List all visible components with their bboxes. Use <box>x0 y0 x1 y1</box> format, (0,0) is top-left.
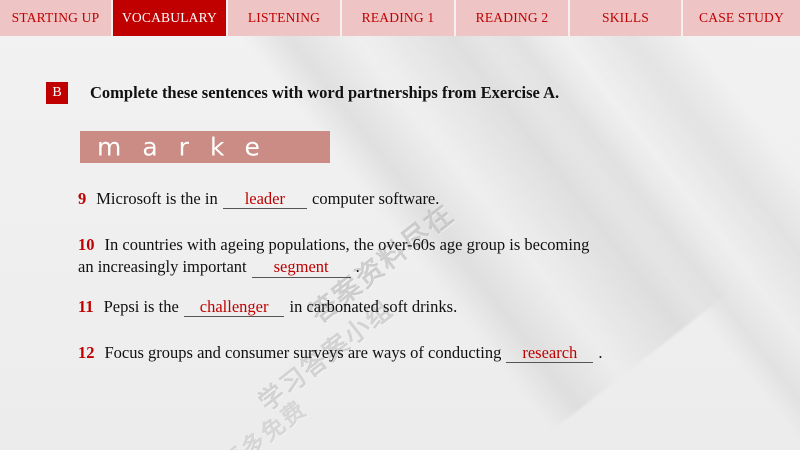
banner-label: marke <box>97 135 281 160</box>
question-text-after: in carbonated soft drinks. <box>289 297 457 316</box>
tab-starting-up[interactable]: STARTING UP <box>0 0 113 36</box>
question-text-after: computer software. <box>312 189 439 208</box>
question-number: 12 <box>78 343 95 362</box>
question-text-after: . <box>598 343 602 362</box>
question-text-before: Focus groups and consumer surveys are wa… <box>105 343 502 362</box>
slide-content: B Complete these sentences with word par… <box>0 36 800 450</box>
question-number: 11 <box>78 297 94 316</box>
tab-reading-2[interactable]: READING 2 <box>456 0 570 36</box>
question-9: 9Microsoft is the inleadercomputer softw… <box>78 188 439 210</box>
answer-blank-research[interactable]: research <box>506 344 593 363</box>
question-text-before: Pepsi is the <box>104 297 179 316</box>
question-10: 10In countries with ageing populations, … <box>78 234 703 279</box>
page-title: Complete these sentences with word partn… <box>90 83 559 103</box>
question-11: 11Pepsi is thechallengerin carbonated so… <box>78 296 457 318</box>
marketing-word-banner: marke <box>80 131 330 163</box>
question-number: 9 <box>78 189 86 208</box>
tab-listening[interactable]: LISTENING <box>228 0 342 36</box>
answer-blank-segment[interactable]: segment <box>252 258 351 277</box>
tab-vocabulary[interactable]: VOCABULARY <box>113 0 228 36</box>
answer-blank-leader[interactable]: leader <box>223 190 307 209</box>
tab-reading-1[interactable]: READING 1 <box>342 0 456 36</box>
answer-blank-challenger[interactable]: challenger <box>184 298 285 317</box>
question-text-before: an increasingly important <box>78 257 247 276</box>
tab-skills[interactable]: SKILLS <box>570 0 683 36</box>
question-text-line1: In countries with ageing populations, th… <box>105 235 590 254</box>
slide-canvas: 答案资料尽在 学习答案小组 更多免费 STARTING UP VOCABULAR… <box>0 0 800 450</box>
exercise-badge: B <box>46 82 68 104</box>
question-number: 10 <box>78 235 95 254</box>
question-text-after: . <box>356 257 360 276</box>
section-tab-bar: STARTING UP VOCABULARY LISTENING READING… <box>0 0 800 36</box>
tab-case-study[interactable]: CASE STUDY <box>683 0 800 36</box>
exercise-header: B Complete these sentences with word par… <box>46 82 559 104</box>
question-12: 12Focus groups and consumer surveys are … <box>78 342 602 364</box>
question-text-before: Microsoft is the in <box>96 189 217 208</box>
